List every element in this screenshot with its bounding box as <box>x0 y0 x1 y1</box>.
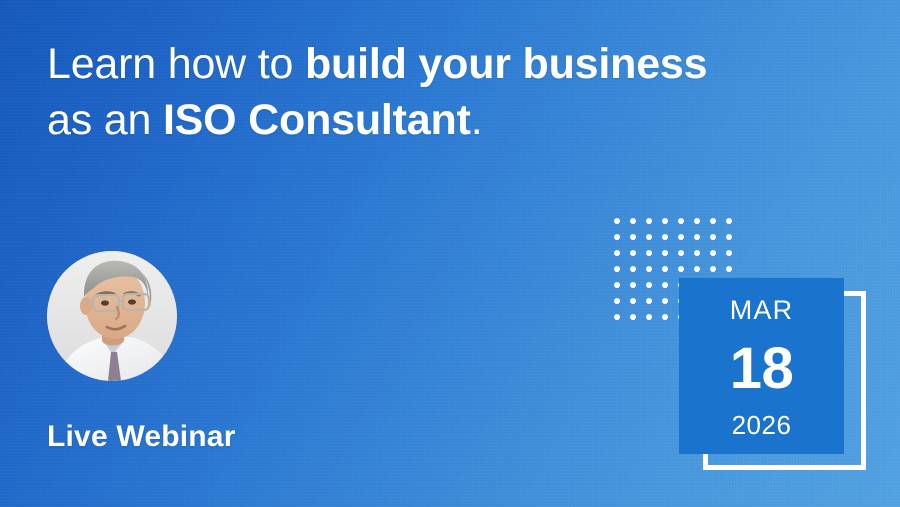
headline-line-2: as an ISO Consultant. <box>47 92 807 148</box>
grid-dot <box>630 314 636 320</box>
grid-dot <box>694 250 700 256</box>
avatar <box>47 251 177 381</box>
grid-dot <box>662 282 668 288</box>
grid-dot <box>710 218 716 224</box>
headline-line-1-bold: build your business <box>305 40 707 88</box>
grid-dot <box>694 234 700 240</box>
grid-dot <box>646 250 652 256</box>
grid-dot <box>678 218 684 224</box>
grid-dot <box>662 298 668 304</box>
grid-dot <box>646 218 652 224</box>
event-type-label: Live Webinar <box>47 420 236 454</box>
grid-dot <box>710 250 716 256</box>
person-headshot-photo-icon <box>47 251 177 381</box>
grid-dot <box>630 282 636 288</box>
headline-line-2-bold: ISO Consultant <box>163 96 471 144</box>
grid-dot <box>726 266 732 272</box>
headline-line-2-period: . <box>471 96 483 144</box>
grid-dot <box>710 266 716 272</box>
grid-dot <box>614 314 620 320</box>
grid-dot <box>630 266 636 272</box>
grid-dot <box>630 250 636 256</box>
webinar-promo-banner: Learn how to build your business as an I… <box>0 0 900 507</box>
grid-dot <box>726 218 732 224</box>
grid-dot <box>694 266 700 272</box>
grid-dot <box>614 282 620 288</box>
grid-dot <box>726 250 732 256</box>
date-month: MAR <box>730 297 794 324</box>
date-day: 18 <box>730 340 794 398</box>
grid-dot <box>710 234 716 240</box>
grid-dot <box>646 314 652 320</box>
grid-dot <box>614 218 620 224</box>
grid-dot <box>614 234 620 240</box>
page-title: Learn how to build your business as an I… <box>47 36 807 148</box>
grid-dot <box>678 266 684 272</box>
grid-dot <box>614 266 620 272</box>
grid-dot <box>678 234 684 240</box>
grid-dot <box>662 218 668 224</box>
grid-dot <box>678 250 684 256</box>
grid-dot <box>726 234 732 240</box>
headline-line-2-regular: as an <box>47 96 163 144</box>
grid-dot <box>630 218 636 224</box>
headline-line-1-regular: Learn how to <box>47 40 305 88</box>
grid-dot <box>646 234 652 240</box>
grid-dot <box>662 266 668 272</box>
grid-dot <box>646 298 652 304</box>
grid-dot <box>662 314 668 320</box>
event-date-block: MAR 18 2026 <box>614 218 879 478</box>
grid-dot <box>662 250 668 256</box>
grid-dot <box>630 298 636 304</box>
grid-dot <box>630 234 636 240</box>
grid-dot <box>614 298 620 304</box>
headline-line-1: Learn how to build your business <box>47 36 807 92</box>
grid-dot <box>694 218 700 224</box>
grid-dot <box>646 266 652 272</box>
date-card: MAR 18 2026 <box>679 278 844 454</box>
grid-dot <box>646 282 652 288</box>
grid-dot <box>614 250 620 256</box>
date-year: 2026 <box>732 412 792 438</box>
grid-dot <box>662 234 668 240</box>
